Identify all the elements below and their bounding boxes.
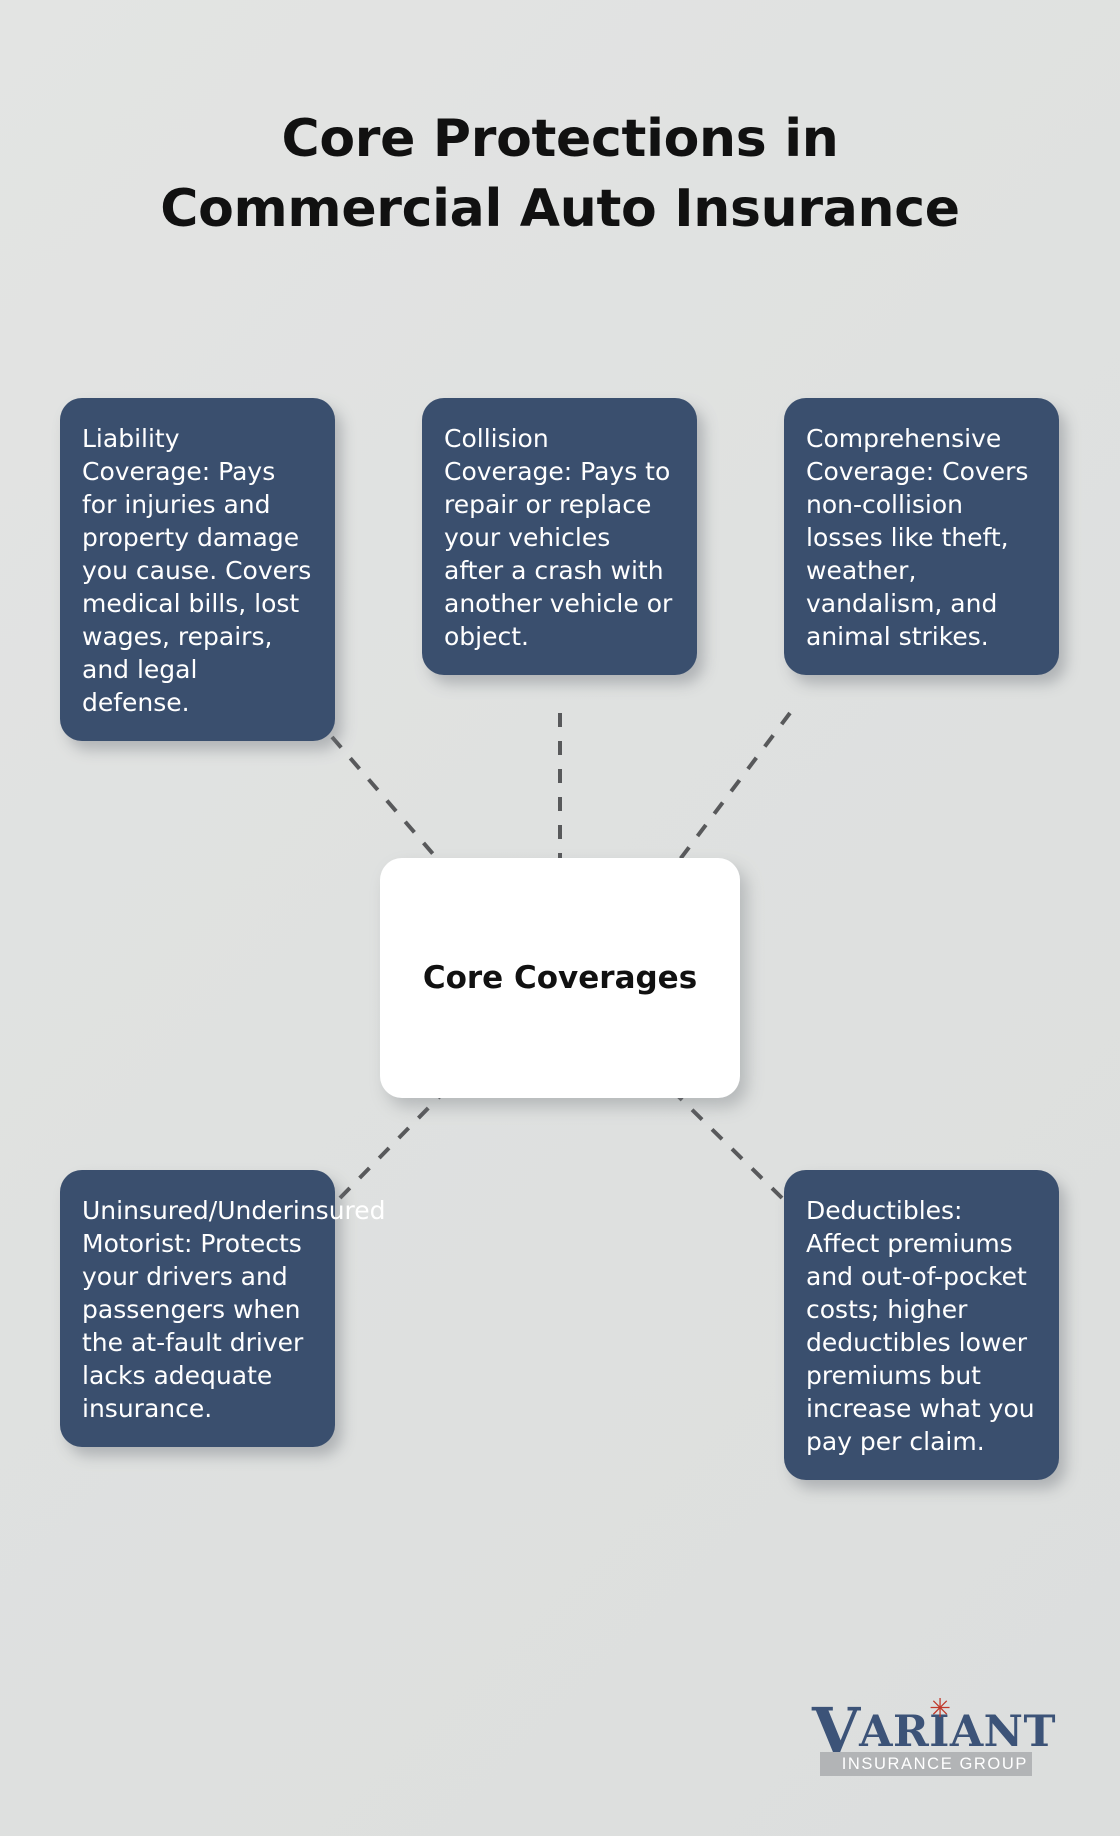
coverage-card-comprehensive[interactable]: Comprehensive Coverage: Covers non-colli…: [784, 398, 1059, 675]
variant-insurance-group-logo: VARIANT ✳ INSURANCE GROUP: [812, 1700, 1032, 1782]
page-title: Core Protections in Commercial Auto Insu…: [0, 105, 1120, 244]
logo-tagline-bar: INSURANCE GROUP: [820, 1752, 1032, 1776]
coverage-card-collision[interactable]: Collision Coverage: Pays to repair or re…: [422, 398, 697, 675]
logo-wordmark-text: ARIANT: [859, 1707, 1056, 1757]
center-hub[interactable]: Core Coverages: [380, 858, 740, 1098]
coverage-card-deductibles[interactable]: Deductibles: Affect premiums and out-of-…: [784, 1170, 1059, 1480]
coverage-card-liability[interactable]: Liability Coverage: Pays for injuries an…: [60, 398, 335, 741]
infographic-canvas: Core Protections in Commercial Auto Insu…: [0, 0, 1120, 1836]
connector-comprehensive: [678, 713, 790, 862]
connector-liability: [332, 737, 440, 862]
connector-deductibles: [676, 1094, 782, 1198]
logo-tagline-text: INSURANCE GROUP: [842, 1756, 1032, 1773]
center-hub-label: Core Coverages: [423, 960, 697, 996]
coverage-card-uninsured-motorist[interactable]: Uninsured/Underinsured Motorist: Protect…: [60, 1170, 335, 1447]
connector-uninsured: [340, 1094, 442, 1198]
starburst-icon: ✳: [929, 1698, 951, 1720]
